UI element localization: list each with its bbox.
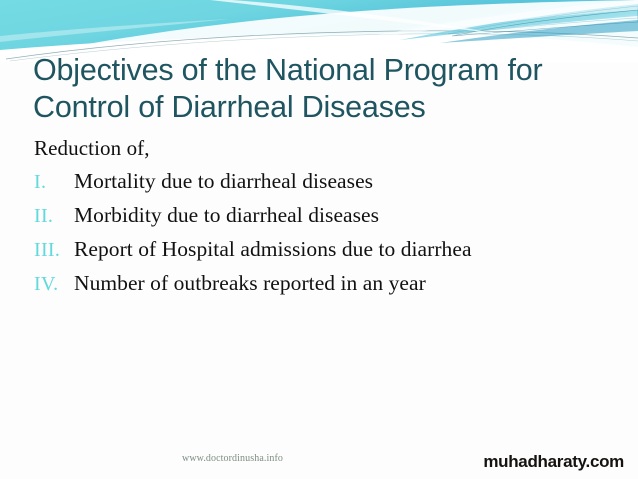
list-item-numeral: IV. — [34, 268, 74, 301]
slide: Objectives of the National Program for C… — [0, 0, 638, 479]
lead-line: Reduction of, — [34, 133, 604, 163]
list-item-label: Number of outbreaks reported in an year — [74, 267, 604, 300]
list-item-label: Morbidity due to diarrheal diseases — [74, 199, 604, 232]
site-watermark: www.doctordinusha.info — [182, 453, 283, 464]
list-item-numeral: III. — [34, 234, 74, 267]
list-item: I. Mortality due to diarrheal diseases — [34, 165, 604, 199]
title-block: Objectives of the National Program for C… — [33, 52, 593, 126]
list-item: II. Morbidity due to diarrheal diseases — [34, 199, 604, 233]
list-item-numeral: I. — [34, 166, 74, 199]
objectives-list: I. Mortality due to diarrheal diseases I… — [34, 165, 604, 301]
body-content: Reduction of, I. Mortality due to diarrh… — [34, 133, 604, 301]
list-item-label: Mortality due to diarrheal diseases — [74, 165, 604, 198]
list-item-numeral: II. — [34, 200, 74, 233]
list-item-label: Report of Hospital admissions due to dia… — [74, 233, 604, 266]
brand-watermark: muhadharaty.com — [483, 452, 624, 472]
list-item: IV. Number of outbreaks reported in an y… — [34, 267, 604, 301]
list-item: III. Report of Hospital admissions due t… — [34, 233, 604, 267]
page-title: Objectives of the National Program for C… — [33, 52, 593, 126]
